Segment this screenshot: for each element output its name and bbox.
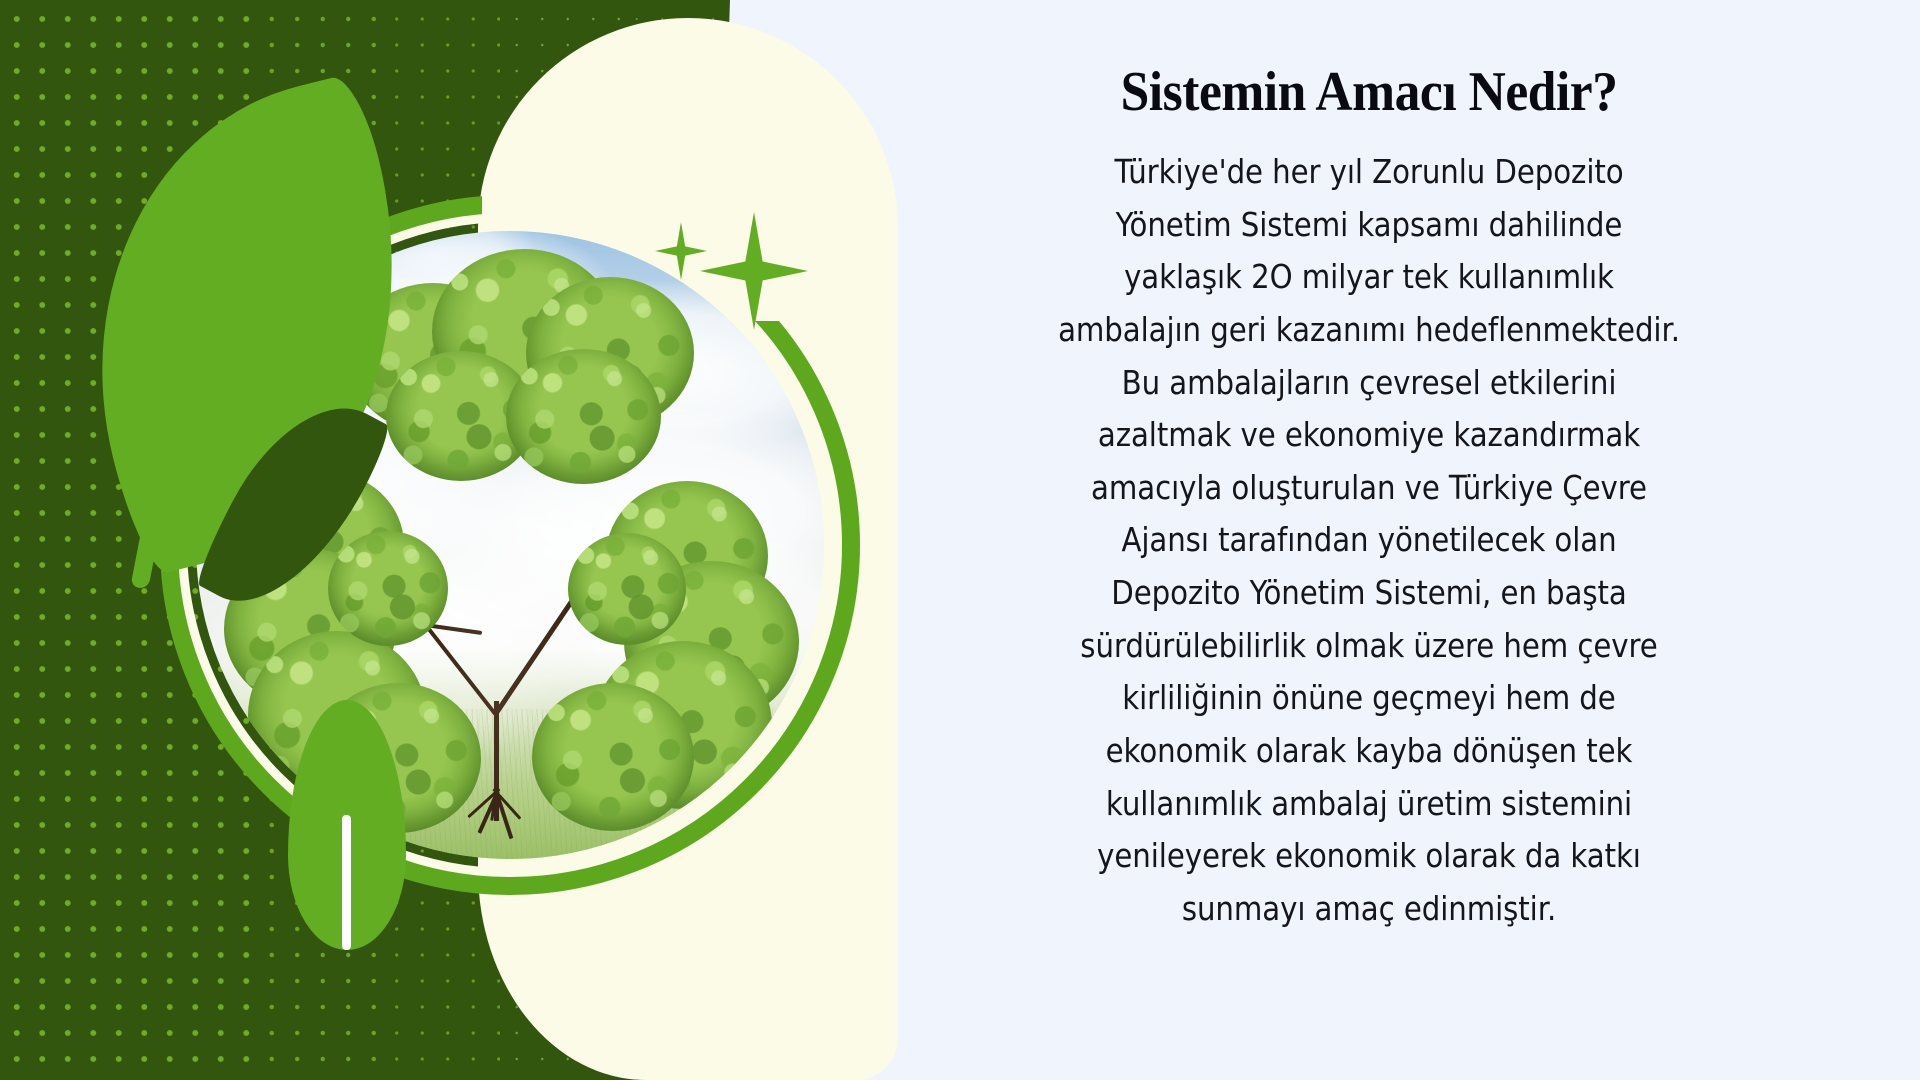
page-title: Sistemin Amacı Nedir? xyxy=(1121,60,1618,124)
foliage-right-bottom xyxy=(532,683,694,831)
foliage-right-inner xyxy=(568,533,686,645)
sparkle-small-icon xyxy=(655,222,707,280)
decorative-left-panel xyxy=(0,0,900,1080)
sparkle-large-icon xyxy=(700,212,808,330)
body-paragraph: Türkiye'de her yıl Zorunlu Depozito Yöne… xyxy=(1054,146,1684,936)
content-column: Sistemin Amacı Nedir? Türkiye'de her yıl… xyxy=(868,0,1920,1080)
slide-root: Sistemin Amacı Nedir? Türkiye'de her yıl… xyxy=(0,0,1920,1080)
foliage-left-inner xyxy=(328,531,448,646)
